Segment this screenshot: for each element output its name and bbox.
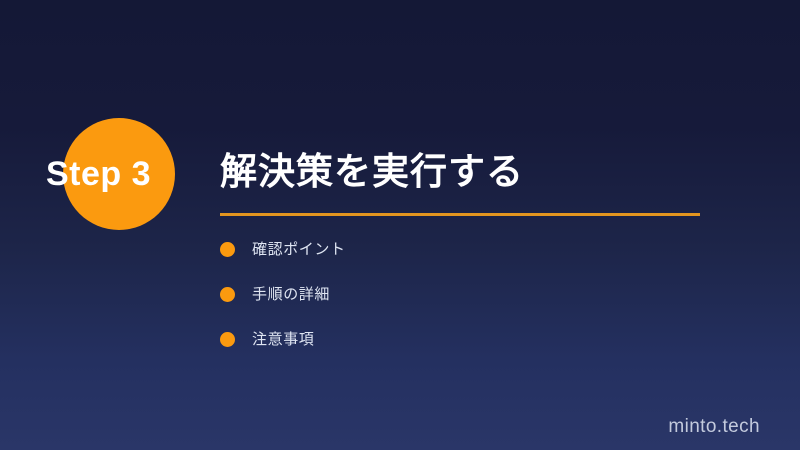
bullet-dot-icon [220,287,235,302]
bullet-label: 手順の詳細 [252,285,330,304]
step-badge-label: Step 3 [46,152,206,196]
slide-title: 解決策を実行する [220,146,524,198]
bullet-label: 注意事項 [252,330,314,349]
bullet-list: 確認ポイント 手順の詳細 注意事項 [220,240,346,375]
list-item: 注意事項 [220,330,346,349]
footer-brand: minto.tech [668,416,760,438]
list-item: 確認ポイント [220,240,346,259]
title-divider [220,213,700,216]
slide-canvas: Step 3 解決策を実行する 確認ポイント 手順の詳細 注意事項 minto.… [0,0,800,450]
bullet-label: 確認ポイント [252,240,346,259]
bullet-dot-icon [220,332,235,347]
list-item: 手順の詳細 [220,285,346,304]
bullet-dot-icon [220,242,235,257]
